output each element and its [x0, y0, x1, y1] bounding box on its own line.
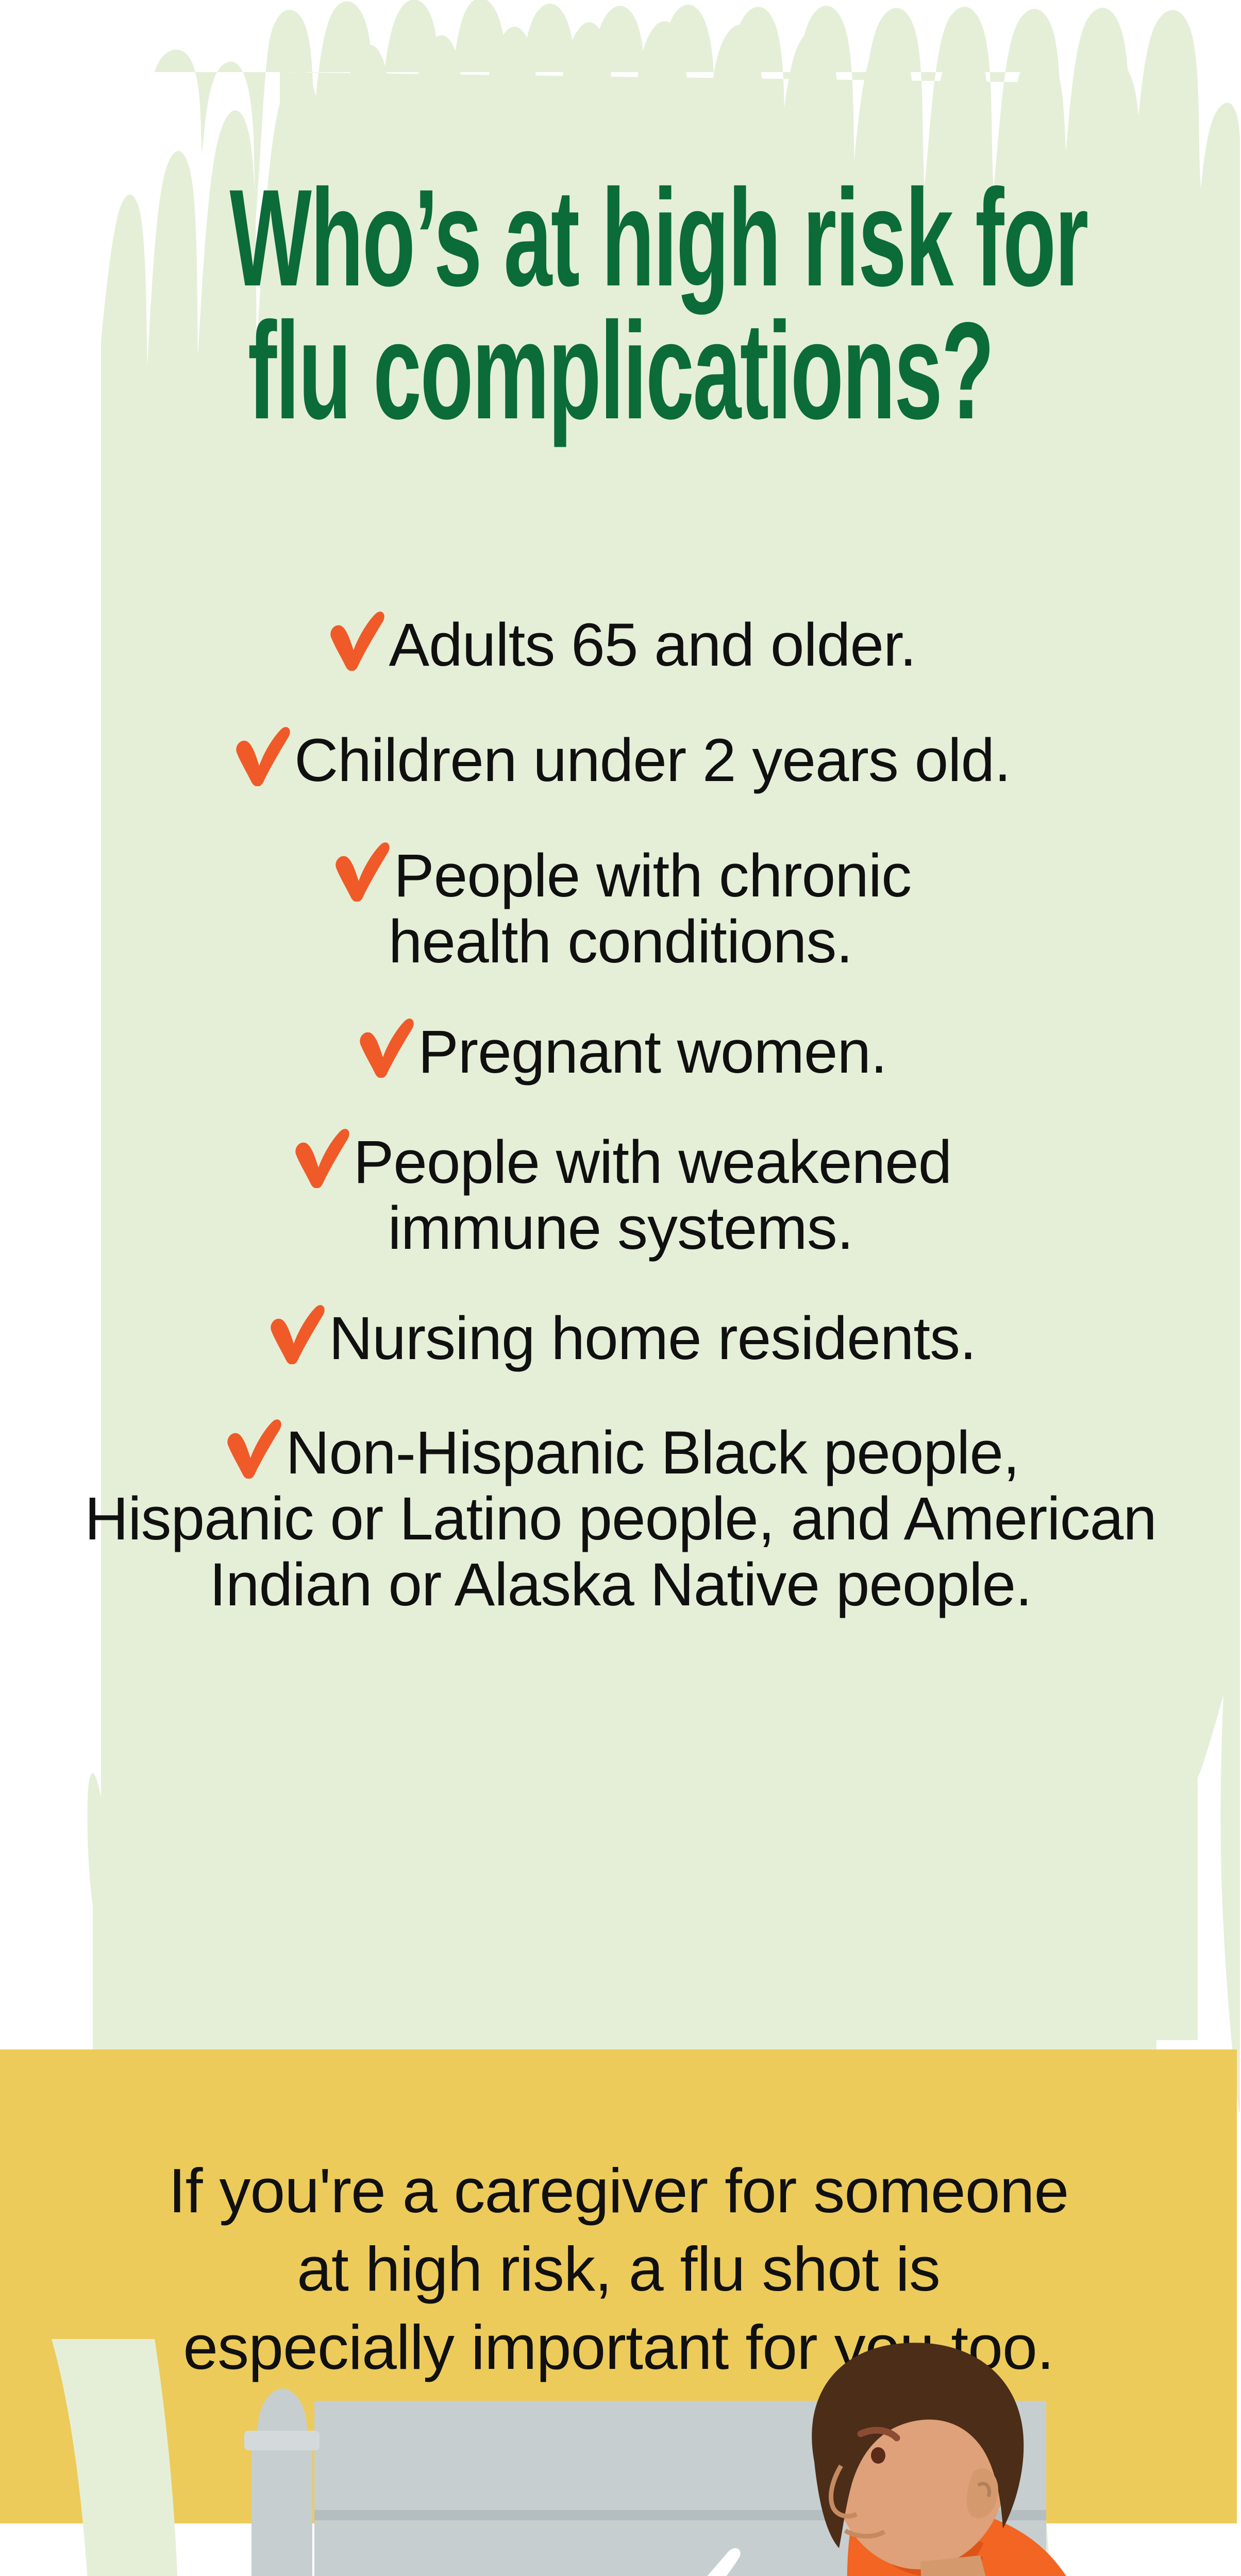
list-item-line-2: health conditions.	[330, 909, 911, 975]
list-item-line-1: Pregnant women.	[418, 1018, 887, 1086]
caregiver-illustration	[0, 2339, 1241, 2576]
list-item-line-1: Non-Hispanic Black people,	[286, 1419, 1019, 1487]
list-item: Adults 65 and older.	[0, 608, 1241, 678]
list-item-line-1: Nursing home residents.	[329, 1304, 976, 1372]
check-mark-icon	[222, 1416, 281, 1479]
check-mark-icon	[330, 839, 390, 902]
list-item: Children under 2 years old.	[0, 723, 1241, 793]
high-risk-checklist: Adults 65 and older. Children under 2 ye…	[0, 608, 1241, 1648]
list-item-text: Nursing home residents.	[329, 1304, 976, 1372]
list-item-line-1: People with weakened	[354, 1128, 952, 1196]
list-item-line-2: Hispanic or Latino people, and American …	[64, 1486, 1177, 1618]
check-mark-icon	[265, 1301, 325, 1364]
list-item-text: Adults 65 and older.	[389, 611, 916, 679]
list-item-line-1: Adults 65 and older.	[389, 611, 916, 679]
page-title: Who’s at high risk for flu complications…	[0, 171, 1241, 437]
list-item-line-1: People with chronic	[394, 842, 911, 910]
check-mark-icon	[290, 1125, 349, 1188]
list-item: Nursing home residents.	[0, 1301, 1241, 1371]
check-mark-icon	[325, 608, 384, 671]
list-item: Non-Hispanic Black people,Hispanic or La…	[0, 1416, 1241, 1618]
list-item: Pregnant women.	[0, 1015, 1241, 1085]
infographic-canvas: Who’s at high risk for flu complications…	[0, 0, 1241, 2576]
list-item-text: Children under 2 years old.	[294, 726, 1011, 794]
list-item-line-1: Children under 2 years old.	[294, 726, 1011, 794]
caregiver-line-2: at high risk, a flu shot is	[62, 2230, 1175, 2308]
title-line-1: Who’s at high risk for	[229, 171, 1011, 304]
list-item-line-2: immune systems.	[290, 1195, 952, 1261]
list-item-text: Pregnant women.	[418, 1018, 887, 1086]
list-item-text: People with chronichealth conditions.	[330, 842, 911, 975]
check-mark-icon	[230, 723, 290, 786]
list-item-text: People with weakenedimmune systems.	[290, 1128, 952, 1261]
title-line-2: flu complications?	[229, 304, 1011, 437]
check-mark-icon	[354, 1015, 414, 1078]
list-item: People with weakenedimmune systems.	[0, 1125, 1241, 1261]
list-item: People with chronichealth conditions.	[0, 839, 1241, 975]
caregiver-line-1: If you're a caregiver for someone	[62, 2151, 1175, 2230]
